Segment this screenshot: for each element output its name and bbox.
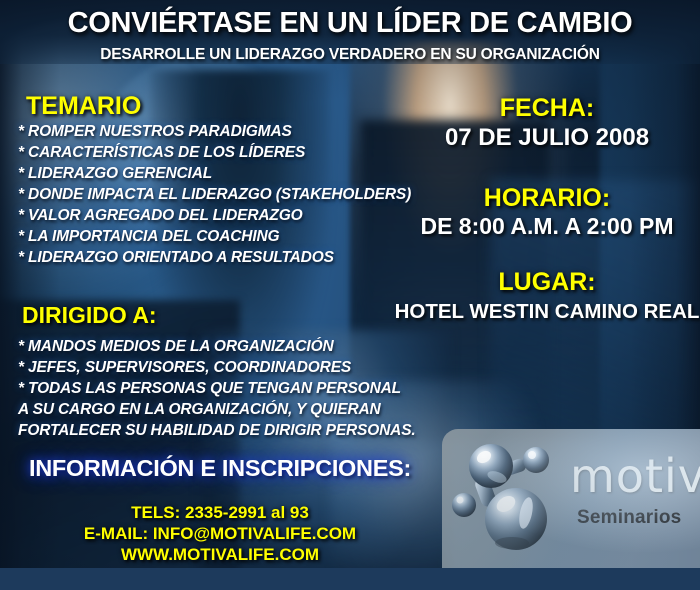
list-item: * JEFES, SUPERVISORES, COORDINADORES: [18, 357, 416, 378]
flyer-poster: CONVIÉRTASE EN UN LÍDER DE CAMBIO DESARR…: [0, 0, 700, 590]
contact-website[interactable]: WWW.MOTIVALIFE.COM: [0, 544, 440, 565]
chrome-molecule-icon: [450, 433, 568, 558]
list-item: A SU CARGO EN LA ORGANIZACIÓN, Y QUIERAN: [18, 399, 416, 420]
list-item: * LIDERAZGO GERENCIAL: [18, 163, 411, 184]
horario-label: HORARIO:: [0, 184, 700, 213]
dirigido-a-list: * MANDOS MEDIOS DE LA ORGANIZACIÓN * JEF…: [18, 336, 416, 441]
lugar-value: HOTEL WESTIN CAMINO REAL: [0, 300, 700, 324]
contact-email[interactable]: E-MAIL: INFO@MOTIVALIFE.COM: [0, 523, 440, 544]
fecha-label: FECHA:: [0, 94, 700, 123]
footer-bar: [0, 568, 700, 590]
informacion-heading: INFORMACIÓN E INSCRIPCIONES:: [0, 455, 440, 482]
list-item: FORTALECER SU HABILIDAD DE DIRIGIR PERSO…: [18, 420, 416, 441]
list-item: * TODAS LAS PERSONAS QUE TENGAN PERSONAL: [18, 378, 416, 399]
lugar-label: LUGAR:: [0, 268, 700, 297]
logo-wordmark: motiva: [570, 453, 700, 499]
fecha-value: 07 DE JULIO 2008: [0, 124, 700, 152]
contact-phone[interactable]: TELS: 2335-2991 al 93: [0, 502, 440, 523]
list-item: * MANDOS MEDIOS DE LA ORGANIZACIÓN: [18, 336, 416, 357]
horario-value: DE 8:00 A.M. A 2:00 PM: [0, 213, 700, 240]
logo-tagline: Seminarios: [577, 507, 681, 529]
contact-block: TELS: 2335-2991 al 93 E-MAIL: INFO@MOTIV…: [0, 502, 440, 565]
page-title: CONVIÉRTASE EN UN LÍDER DE CAMBIO: [0, 7, 700, 40]
list-item: * LIDERAZGO ORIENTADO A RESULTADOS: [18, 247, 411, 268]
logo-panel: motiva Seminarios: [442, 429, 700, 568]
page-subtitle: DESARROLLE UN LIDERAZGO VERDADERO EN SU …: [0, 46, 700, 64]
